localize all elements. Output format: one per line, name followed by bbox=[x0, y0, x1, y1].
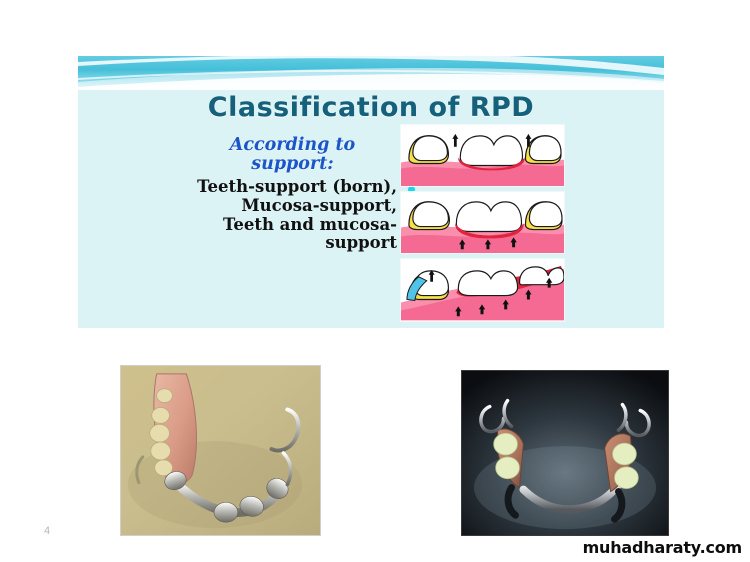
list-item: Teeth and mucosa-support bbox=[170, 216, 415, 252]
teeth-support-diagram bbox=[400, 124, 565, 187]
heading-line-1: According to bbox=[170, 136, 415, 155]
slide-title: Classification of RPD bbox=[78, 92, 664, 123]
mucosa-support-diagram bbox=[400, 191, 565, 254]
teeth-support-illustration bbox=[401, 125, 564, 186]
partial-denture-photo-right bbox=[461, 370, 669, 536]
support-diagram-panel bbox=[400, 124, 565, 326]
list-item-label: Teeth-support (born), bbox=[170, 178, 397, 196]
support-type-list: Teeth-support (born), Mucosa-support, Te… bbox=[170, 178, 415, 253]
banner-wave-graphic bbox=[78, 56, 664, 90]
teeth-and-mucosa-support-illustration bbox=[401, 259, 564, 320]
list-item: Teeth-support (born), bbox=[170, 178, 415, 196]
list-item-label: Mucosa-support, bbox=[170, 197, 397, 215]
teeth-and-mucosa-support-diagram bbox=[400, 258, 565, 321]
denture-photo-right-image bbox=[462, 371, 668, 535]
presentation-slide: Classification of RPD According to suppo… bbox=[78, 56, 664, 328]
partial-denture-photo-left bbox=[120, 365, 321, 536]
support-classification-text: According to support: Teeth-support (bor… bbox=[170, 136, 415, 253]
watermark: muhadharaty.com bbox=[583, 538, 742, 557]
slide-banner bbox=[78, 56, 664, 90]
page-number: 4 bbox=[44, 525, 50, 537]
list-item-label: Teeth and mucosa-support bbox=[170, 216, 397, 252]
according-to-support-heading: According to support: bbox=[170, 136, 415, 174]
denture-photo-left-image bbox=[121, 366, 320, 535]
mucosa-support-illustration bbox=[401, 192, 564, 253]
list-item: Mucosa-support, bbox=[170, 197, 415, 215]
heading-line-2: support: bbox=[170, 155, 415, 174]
